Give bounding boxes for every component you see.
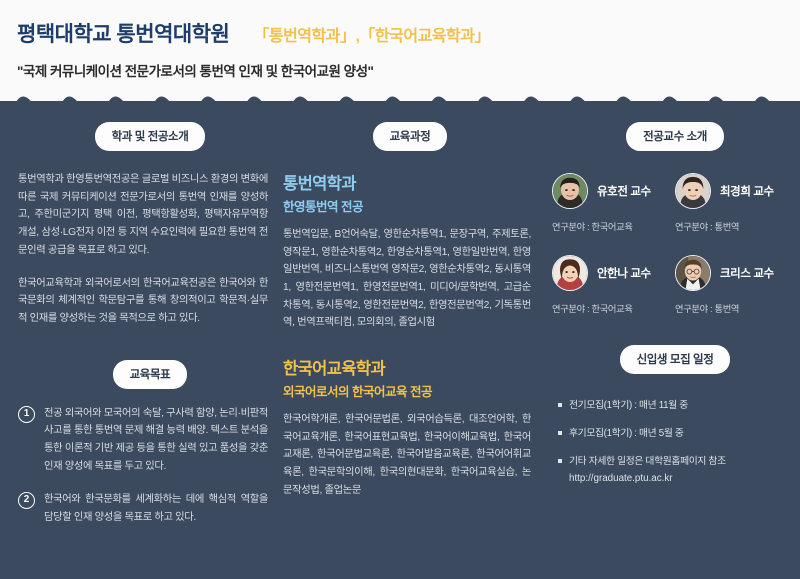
section-professors: 전공교수 소개: [552, 122, 792, 315]
section-goals: 교육목표 1 전공 외국어와 모국어의 숙달, 구사력 함양, 논리·비판적 사…: [18, 360, 268, 527]
professor-card: 최경희 교수 연구분야 : 통번역: [675, 173, 792, 233]
intro-paragraph: 한국어교육학과 외국어로서의 한국어교육전공은 한국어와 한국문화의 체계적인 …: [18, 275, 268, 328]
goals-badge-wrap: 교육목표: [18, 360, 268, 389]
tagline: "국제 커뮤니케이션 전문가로서의 통번역 인재 및 한국어교원 양성": [17, 60, 373, 80]
intro-badge-wrap: 학과 및 전공소개: [18, 122, 268, 151]
avatar: [675, 255, 711, 291]
page-title: 평택대학교 통번역대학원: [17, 18, 229, 48]
section-admission: 신입생 모집 일정 전기모집(1학기) : 매년 11월 중 후기모집(1학기)…: [552, 345, 792, 486]
goal-number: 2: [18, 492, 35, 509]
bullet-square-icon: [558, 403, 562, 407]
curriculum-badge-wrap: 교육과정: [283, 122, 531, 151]
admission-item: 후기모집(1학기) : 매년 5월 중: [558, 426, 792, 441]
bullet-square-icon: [558, 459, 562, 463]
professor-header: 유호전 교수: [552, 173, 669, 209]
scallop-divider-icon: [0, 96, 800, 122]
goal-text: 한국어와 한국문화를 세계화하는 데에 핵심적 역할을 담당할 인재 양성을 목…: [44, 491, 268, 526]
person-photo-icon: [553, 174, 587, 208]
goal-text: 전공 외국어와 모국어의 숙달, 구사력 함양, 논리·비판적 사고를 통한 통…: [44, 405, 268, 476]
professor-header: 최경희 교수: [675, 173, 792, 209]
professors-badge: 전공교수 소개: [626, 122, 724, 151]
professor-name: 최경희 교수: [720, 183, 774, 199]
professor-card: 크리스 교수 연구분야 : 통번역: [675, 255, 792, 315]
professor-header: 안한나 교수: [552, 255, 669, 291]
poster-header: 평택대학교 통번역대학원 「통번역학과」,「한국어교육학과」 "국제 커뮤니케이…: [0, 0, 800, 101]
avatar: [552, 255, 588, 291]
person-photo-icon: [553, 256, 587, 290]
goals-badge: 교육목표: [113, 360, 188, 389]
person-photo-icon: [676, 256, 710, 290]
professors-badge-wrap: 전공교수 소개: [552, 122, 792, 151]
professor-field: 연구분야 : 통번역: [675, 301, 792, 315]
program-course-list: 한국어학개론, 한국어문법론, 외국어습득론, 대조언어학, 한국어교육개론, …: [283, 411, 531, 500]
column-right: 전공교수 소개: [552, 122, 792, 499]
section-intro: 학과 및 전공소개 통번역학과 한영통번역전공은 글로벌 비즈니스 환경의 변화…: [18, 122, 268, 328]
department-subtitle: 「통번역학과」,「한국어교육학과」: [253, 22, 490, 46]
intro-paragraph: 통번역학과 한영통번역전공은 글로벌 비즈니스 환경의 변화에 따른 국제 커뮤…: [18, 171, 268, 260]
professor-grid: 유호전 교수 연구분야 : 한국어교육: [552, 173, 792, 315]
goal-item: 1 전공 외국어와 모국어의 숙달, 구사력 함양, 논리·비판적 사고를 통한…: [18, 405, 268, 476]
admission-badge: 신입생 모집 일정: [620, 345, 731, 374]
professor-card: 유호전 교수 연구분야 : 한국어교육: [552, 173, 669, 233]
professor-name: 안한나 교수: [597, 265, 651, 281]
column-left: 학과 및 전공소개 통번역학과 한영통번역전공은 글로벌 비즈니스 환경의 변화…: [18, 122, 268, 527]
program-name: 한국어교육학과: [283, 360, 531, 380]
graduate-site-link[interactable]: http://graduate.ptu.ac.kr: [569, 471, 726, 486]
title-row: 평택대학교 통번역대학원 「통번역학과」,「한국어교육학과」: [17, 18, 490, 48]
admission-text: 기타 자세한 일정은 대학원홈페이지 참조: [569, 456, 726, 467]
goal-item: 2 한국어와 한국문화를 세계화하는 데에 핵심적 역할을 담당할 인재 양성을…: [18, 491, 268, 526]
admission-list: 전기모집(1학기) : 매년 11월 중 후기모집(1학기) : 매년 5월 중…: [552, 398, 792, 486]
professor-header: 크리스 교수: [675, 255, 792, 291]
program-interpretation: 통번역학과 한영통번역 전공 통번역입문, B언어숙달, 영한순차통역1, 문장…: [283, 175, 531, 332]
poster-root: 평택대학교 통번역대학원 「통번역학과」,「한국어교육학과」 "국제 커뮤니케이…: [0, 0, 800, 579]
program-major: 한영통번역 전공: [283, 200, 531, 215]
bullet-square-icon: [558, 431, 562, 435]
admission-text: 전기모집(1학기) : 매년 11월 중: [569, 398, 688, 413]
person-photo-icon: [676, 174, 710, 208]
poster-body: 학과 및 전공소개 통번역학과 한영통번역전공은 글로벌 비즈니스 환경의 변화…: [0, 122, 800, 579]
avatar: [675, 173, 711, 209]
professor-card: 안한나 교수 연구분야 : 한국어교육: [552, 255, 669, 315]
intro-badge: 학과 및 전공소개: [95, 122, 206, 151]
professor-field: 연구분야 : 한국어교육: [552, 301, 669, 315]
admission-item: 전기모집(1학기) : 매년 11월 중: [558, 398, 792, 413]
professor-field: 연구분야 : 통번역: [675, 219, 792, 233]
professor-name: 유호전 교수: [597, 183, 651, 199]
admission-badge-wrap: 신입생 모집 일정: [552, 345, 792, 374]
admission-item: 기타 자세한 일정은 대학원홈페이지 참조 http://graduate.pt…: [558, 454, 792, 485]
professor-name: 크리스 교수: [720, 265, 774, 281]
goal-number: 1: [18, 406, 35, 423]
curriculum-badge: 교육과정: [373, 122, 448, 151]
program-course-list: 통번역입문, B언어숙달, 영한순차통역1, 문장구역, 주제토론, 영작문1,…: [283, 226, 531, 332]
program-major: 외국어로서의 한국어교육 전공: [283, 385, 531, 400]
column-middle: 교육과정 통번역학과 한영통번역 전공 통번역입문, B언어숙달, 영한순차통역…: [283, 122, 531, 499]
professor-field: 연구분야 : 한국어교육: [552, 219, 669, 233]
program-korean-education: 한국어교육학과 외국어로서의 한국어교육 전공 한국어학개론, 한국어문법론, …: [283, 360, 531, 499]
admission-text-wrap: 기타 자세한 일정은 대학원홈페이지 참조 http://graduate.pt…: [569, 454, 726, 485]
admission-text: 후기모집(1학기) : 매년 5월 중: [569, 426, 684, 441]
program-name: 통번역학과: [283, 175, 531, 195]
avatar: [552, 173, 588, 209]
